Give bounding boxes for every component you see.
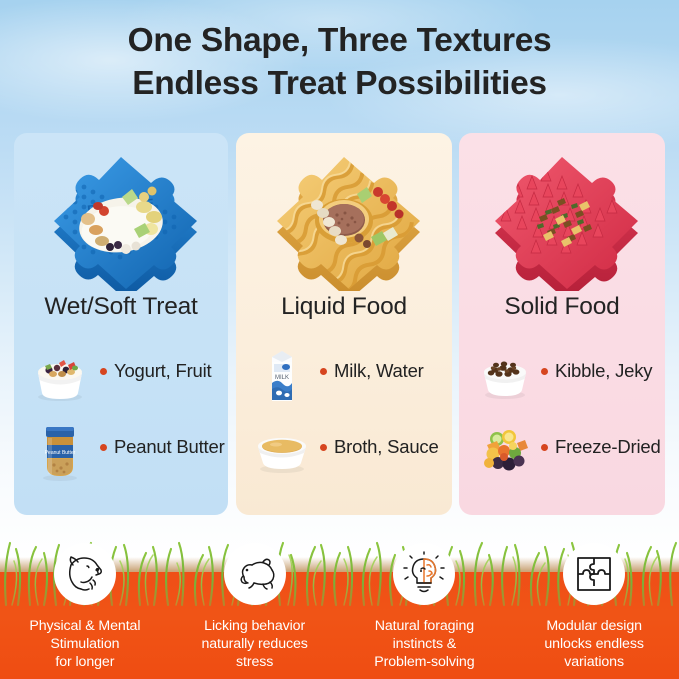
card-item-list: MILK Milk, Water: [236, 339, 452, 491]
item-label: Yogurt, Fruit: [114, 360, 212, 382]
item-label: Freeze-Dried: [555, 436, 661, 458]
item-label: Kibble, Jeky: [555, 360, 652, 382]
dog-licking-playful-icon: [224, 543, 286, 605]
bullet-dot: [541, 368, 548, 375]
svg-text:MILK: MILK: [275, 375, 289, 381]
card-title: Solid Food: [459, 293, 665, 321]
list-item: MILK Milk, Water: [236, 339, 452, 415]
puzzle-four-pieces-icon: [563, 543, 625, 605]
card-liquid-food[interactable]: Liquid Food MILK: [236, 133, 452, 515]
benefits-row: Physical & Mental Stimulation for longer: [0, 543, 679, 679]
benefit-line-2: instincts &: [393, 636, 457, 652]
benefit-line-1: Licking behavior: [204, 618, 305, 634]
bullet-dot: [541, 444, 548, 451]
list-item: Kibble, Jeky: [459, 339, 665, 415]
dog-head-profile-icon: [54, 543, 116, 605]
product-cards: PAWSOME STAY PAWSIT: [0, 133, 679, 515]
benefit-text: Licking behavior naturally reduces stres…: [170, 617, 340, 671]
benefit-line-1: Modular design: [546, 618, 642, 634]
list-item: Yogurt, Fruit: [14, 339, 228, 415]
card-item-list: Kibble, Jeky: [459, 339, 665, 491]
yellow-puzzle-mat-wavy-channels: [236, 141, 452, 293]
benefit-line-3: Problem-solving: [374, 654, 474, 670]
benefit-foraging[interactable]: Natural foraging instincts & Problem-sol…: [340, 543, 510, 679]
yogurt-bowl-icon: [28, 343, 92, 407]
bullet-dot: [100, 368, 107, 375]
item-label: Broth, Sauce: [334, 436, 439, 458]
benefit-text: Natural foraging instincts & Problem-sol…: [340, 617, 510, 671]
bullet-dot: [100, 444, 107, 451]
freeze-dried-fruit-icon: [473, 419, 537, 483]
bullet-dot: [320, 368, 327, 375]
card-title: Liquid Food: [236, 293, 452, 321]
card-item-list: Yogurt, Fruit Peanut Butter: [14, 339, 228, 491]
benefit-text: Modular design unlocks endless variation…: [509, 617, 679, 671]
benefit-stimulation[interactable]: Physical & Mental Stimulation for longer: [0, 543, 170, 679]
page-title: One Shape, Three Textures Endless Treat …: [0, 20, 679, 106]
benefit-line-3: stress: [236, 654, 273, 670]
lightbulb-brain-icon: [393, 543, 455, 605]
list-item: Peanut Butter Peanut Butter: [14, 415, 228, 491]
card-solid-food[interactable]: Solid Food: [459, 133, 665, 515]
benefit-text: Physical & Mental Stimulation for longer: [0, 617, 170, 671]
item-label: Milk, Water: [334, 360, 424, 382]
benefit-line-3: for longer: [55, 654, 114, 670]
headline-line-2: Endless Treat Possibilities: [0, 63, 679, 106]
benefit-line-1: Natural foraging: [375, 618, 474, 634]
milk-carton-icon: MILK: [250, 343, 314, 407]
kibble-bowl-icon: [473, 343, 537, 407]
infographic-stage: One Shape, Three Textures Endless Treat …: [0, 0, 679, 679]
benefit-licking[interactable]: Licking behavior naturally reduces stres…: [170, 543, 340, 679]
card-title: Wet/Soft Treat: [14, 293, 228, 321]
benefit-line-2: unlocks endless: [544, 636, 643, 652]
list-item: Broth, Sauce: [236, 415, 452, 491]
card-wet-soft-treat[interactable]: PAWSOME STAY PAWSIT: [14, 133, 228, 515]
blue-puzzle-mat-bumpy: PAWSOME STAY PAWSIT: [14, 141, 228, 293]
headline-line-1: One Shape, Three Textures: [128, 22, 552, 59]
bullet-dot: [320, 444, 327, 451]
benefit-line-2: naturally reduces: [201, 636, 307, 652]
benefit-line-2: Stimulation: [50, 636, 119, 652]
benefit-modular[interactable]: Modular design unlocks endless variation…: [509, 543, 679, 679]
broth-bowl-icon: [250, 419, 314, 483]
benefit-line-1: Physical & Mental: [29, 618, 140, 634]
list-item: Freeze-Dried: [459, 415, 665, 491]
peanut-butter-jar-icon: Peanut Butter: [28, 419, 92, 483]
item-label: Peanut Butter: [114, 436, 225, 458]
benefit-line-3: variations: [564, 654, 624, 670]
red-puzzle-mat-cone-nubs: [459, 141, 665, 293]
